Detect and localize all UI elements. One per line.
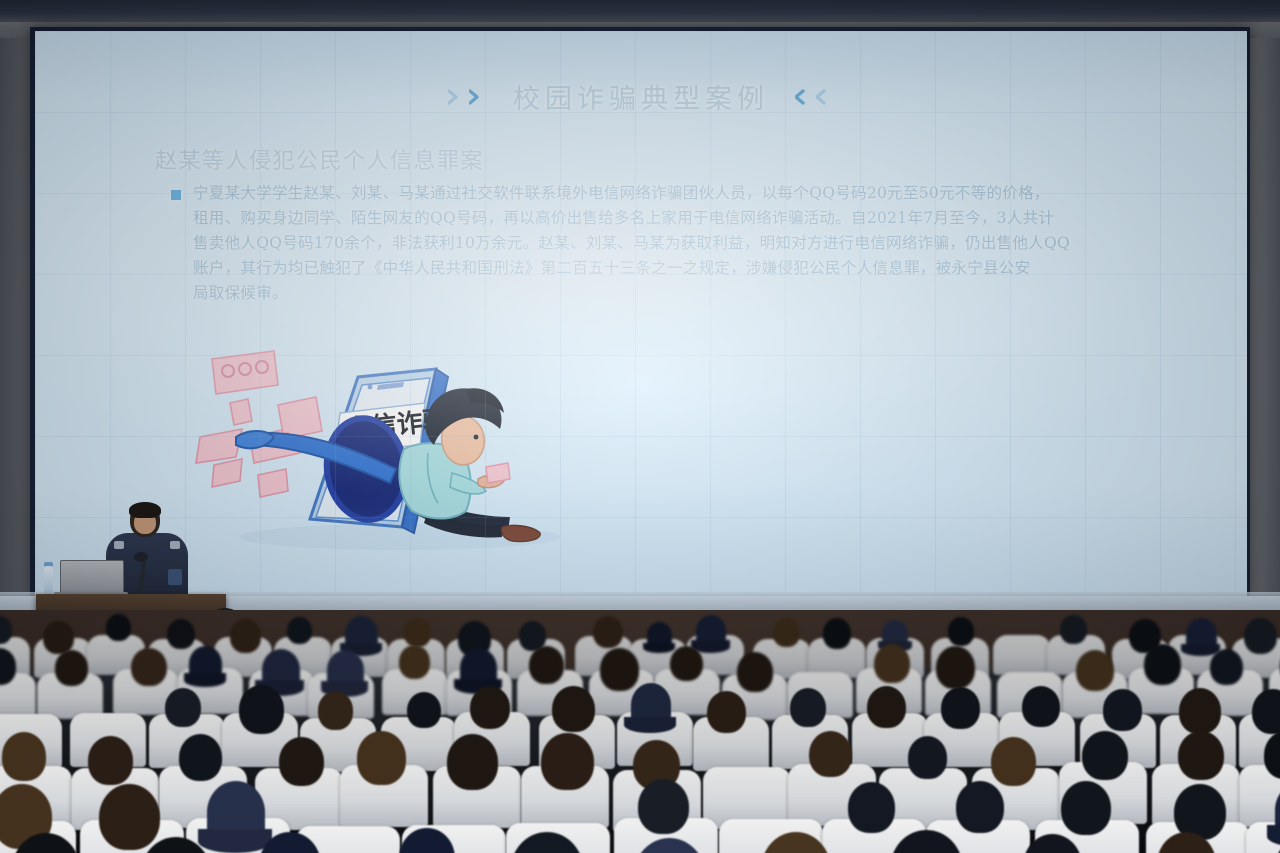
water-bottle bbox=[44, 566, 53, 596]
audience-head bbox=[165, 688, 201, 727]
slide-title: 校园诈骗典型案例 bbox=[513, 77, 769, 116]
audience-head bbox=[874, 644, 910, 683]
audience-area bbox=[0, 610, 1280, 853]
audience-head bbox=[279, 737, 324, 786]
audience-head bbox=[179, 734, 222, 781]
presentation-slide: 校园诈骗典型案例 赵某等人侵犯公民个人信息罪案 宁夏某大学学生赵某、刘某、马某通… bbox=[35, 31, 1247, 598]
audience-head bbox=[600, 648, 639, 690]
audience-head bbox=[790, 688, 827, 728]
audience-head bbox=[140, 837, 213, 853]
audience-row bbox=[0, 832, 1280, 853]
presenter-laptop bbox=[60, 560, 124, 596]
audience-head bbox=[1076, 650, 1114, 691]
audience-head bbox=[404, 618, 431, 647]
audience-cap bbox=[399, 828, 455, 853]
audience-head bbox=[773, 618, 800, 647]
slide-title-row: 校园诈骗典型案例 bbox=[35, 77, 1247, 116]
audience-head bbox=[1082, 731, 1128, 781]
audience-cap bbox=[1275, 782, 1280, 838]
audience-head bbox=[848, 782, 895, 833]
audience-cap bbox=[327, 650, 364, 691]
audience-head bbox=[1252, 689, 1280, 735]
chevron-right-icon bbox=[448, 89, 487, 105]
audience-head bbox=[357, 731, 407, 785]
audience-head bbox=[470, 686, 510, 729]
audience-head bbox=[761, 832, 831, 853]
audience-head bbox=[1103, 689, 1141, 731]
audience-head bbox=[1210, 649, 1243, 685]
square-bullet-icon bbox=[171, 190, 181, 200]
slide-body-block: 宁夏某大学学生赵某、刘某、马某通过社交软件联系境外电信网络诈骗团伙人员，以每个Q… bbox=[171, 181, 1181, 306]
speaker-hair bbox=[129, 502, 161, 518]
audience-head bbox=[1157, 832, 1216, 853]
audience-cap bbox=[189, 646, 222, 681]
audience-head bbox=[131, 648, 166, 686]
lecture-hall-photo: 校园诈骗典型案例 赵某等人侵犯公民个人信息罪案 宁夏某大学学生赵某、刘某、马某通… bbox=[0, 0, 1280, 853]
audience-head bbox=[287, 617, 312, 644]
audience-head bbox=[809, 731, 852, 778]
audience-head bbox=[552, 686, 595, 732]
audience-head bbox=[956, 781, 1004, 833]
body-line: 局取保候审。 bbox=[193, 281, 1181, 306]
audience-cap bbox=[696, 615, 726, 648]
audience-head bbox=[823, 618, 852, 649]
audience-head bbox=[1022, 686, 1060, 728]
telecom-fraud-illustration: 电信诈骗 bbox=[190, 341, 590, 561]
body-line: 租用、购买身边同学、陌生网友的QQ号码，再以高价出售给多名上家用于电信网络诈骗活… bbox=[193, 206, 1181, 231]
audience-head bbox=[529, 646, 564, 684]
audience-head bbox=[1061, 781, 1111, 835]
audience-head bbox=[88, 736, 133, 785]
body-line: 账户，其行为均已触犯了《中华人民共和国刑法》第二百五十三条之一之规定，涉嫌侵犯公… bbox=[193, 256, 1181, 281]
microphone-icon bbox=[134, 552, 148, 562]
audience-head bbox=[1023, 834, 1082, 853]
audience-head bbox=[867, 686, 906, 729]
audience-head bbox=[167, 619, 195, 649]
audience-head bbox=[948, 617, 974, 645]
chevron-left-icon bbox=[795, 89, 834, 105]
audience-cap bbox=[631, 683, 671, 727]
audience-head bbox=[318, 691, 353, 729]
audience-head bbox=[908, 736, 948, 779]
audience-head bbox=[941, 687, 980, 729]
audience-head bbox=[1060, 615, 1087, 644]
audience-head bbox=[239, 685, 284, 734]
body-line: 宁夏某大学学生赵某、刘某、马某通过社交软件联系境外电信网络诈骗团伙人员，以每个Q… bbox=[193, 181, 1181, 206]
audience-head bbox=[12, 833, 80, 853]
audience-cap bbox=[259, 832, 321, 853]
audience-cap bbox=[262, 649, 300, 690]
audience-head bbox=[106, 614, 131, 641]
shoulder-badge-icon bbox=[114, 541, 124, 549]
audience-head bbox=[1179, 688, 1221, 734]
audience-head bbox=[670, 646, 703, 681]
audience-head bbox=[890, 830, 962, 853]
audience-cap bbox=[633, 838, 706, 853]
audience-head bbox=[1178, 731, 1224, 781]
audience-head bbox=[638, 779, 689, 835]
shoulder-badge-icon bbox=[170, 541, 180, 549]
audience-head bbox=[593, 616, 623, 649]
audience-head bbox=[1144, 644, 1181, 685]
arm-patch-icon bbox=[168, 569, 182, 585]
audience-head bbox=[991, 737, 1037, 787]
audience-head bbox=[407, 692, 440, 728]
audience-head bbox=[510, 832, 584, 853]
audience-head bbox=[936, 646, 975, 688]
audience-cap bbox=[460, 648, 497, 688]
slide-subtitle: 赵某等人侵犯公民个人信息罪案 bbox=[155, 143, 484, 175]
slide-body-lines: 宁夏某大学学生赵某、刘某、马某通过社交软件联系境外电信网络诈骗团伙人员，以每个Q… bbox=[193, 181, 1181, 306]
audience-head bbox=[55, 650, 88, 686]
audience-head bbox=[1274, 836, 1280, 853]
audience-head bbox=[707, 691, 746, 733]
led-screen: 校园诈骗典型案例 赵某等人侵犯公民个人信息罪案 宁夏某大学学生赵某、刘某、马某通… bbox=[35, 31, 1247, 598]
audience-head bbox=[399, 645, 430, 679]
audience-head bbox=[2, 732, 47, 780]
body-line: 售卖他人QQ号码170余个，非法获利10万余元。赵某、刘某、马某为获取利益，明知… bbox=[193, 231, 1181, 256]
